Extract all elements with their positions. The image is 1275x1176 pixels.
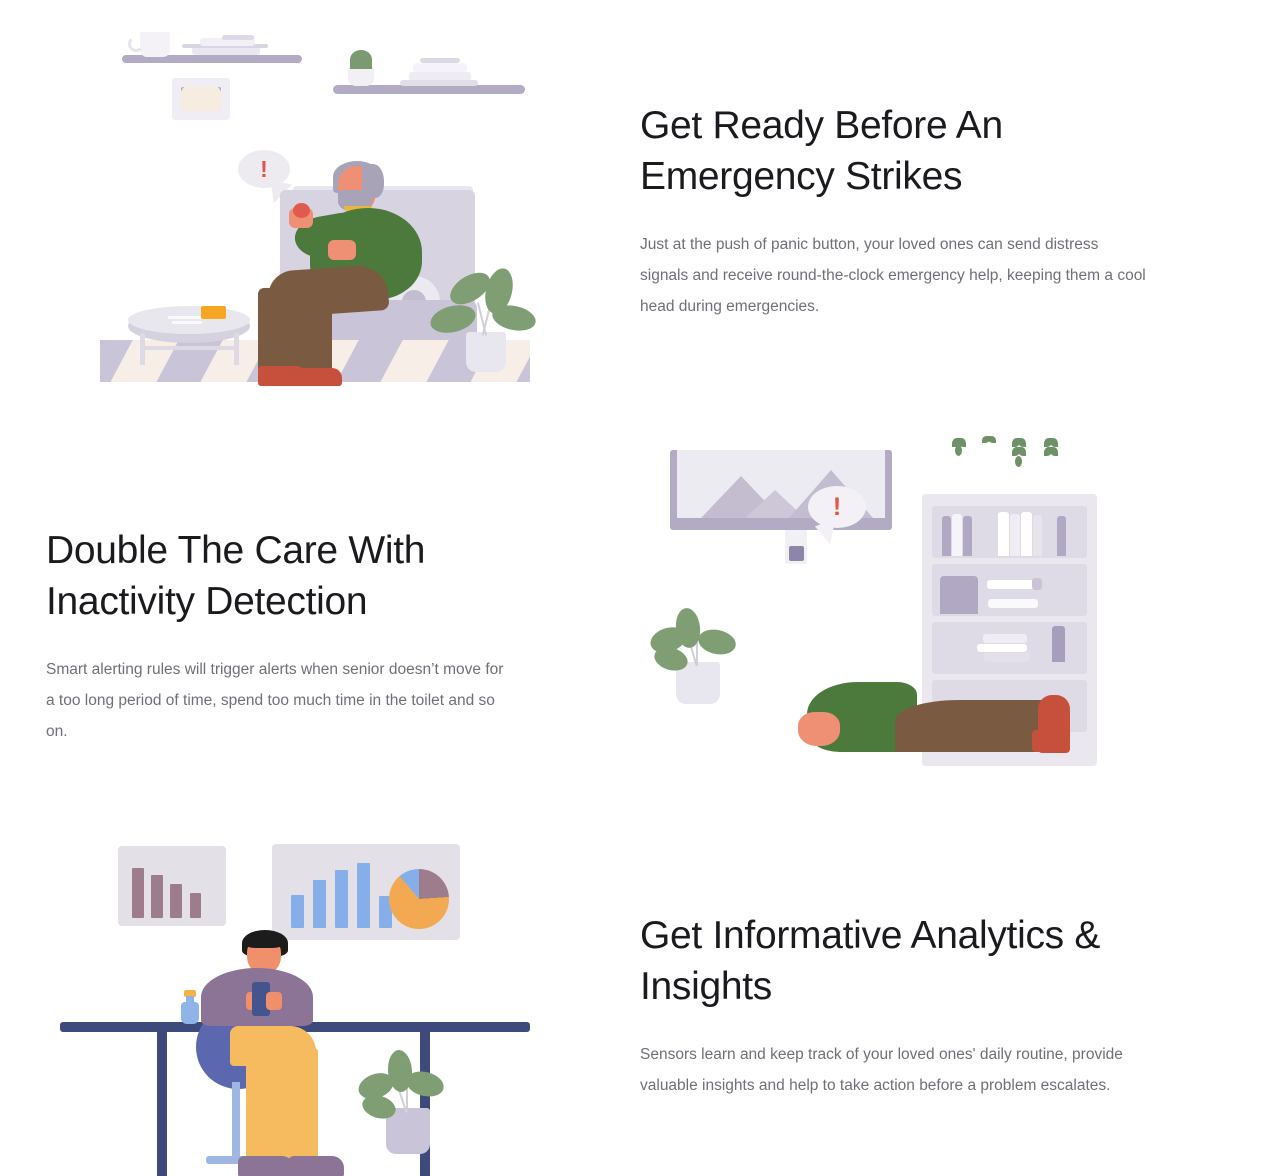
bookshelf-book (1010, 514, 1020, 556)
cat-picture-frame (172, 78, 230, 120)
shelf-book (222, 35, 254, 40)
mug-handle-icon (128, 36, 144, 52)
chart-bar (132, 868, 144, 918)
bookshelf-book (952, 514, 962, 556)
shelf-plant-icon (350, 50, 372, 69)
bookshelf-book (1057, 516, 1066, 556)
feature-title-analytics: Get Informative Analytics & Insights (640, 910, 1150, 1013)
bookshelf-box (940, 576, 978, 614)
vine-leaf (1050, 447, 1058, 456)
young-man-shoe (288, 1156, 344, 1176)
chart-bar (357, 863, 370, 928)
vine-leaf (955, 445, 962, 456)
feature-section-inactivity: Double The Care With Inactivity Detectio… (0, 430, 1275, 810)
panic-button[interactable] (293, 203, 310, 218)
illustration-emergency: ! (0, 0, 640, 400)
chart-bar (313, 880, 326, 928)
bookshelf-book (998, 512, 1009, 556)
fallen-senior-legs (895, 700, 1055, 752)
senior-shoe (300, 368, 342, 386)
young-man-hand (266, 992, 282, 1010)
young-man-hair-front (244, 932, 284, 948)
wall-shelf-right (333, 85, 525, 94)
plant-leaf (490, 302, 538, 335)
coffee-table-surface (128, 306, 250, 334)
water-bottle (181, 1002, 199, 1024)
bookshelf-book (980, 590, 1032, 598)
bookshelf-book (977, 644, 1027, 652)
young-man-shoe (238, 1156, 294, 1176)
pie-chart (389, 869, 449, 929)
bookshelf-book (1032, 578, 1042, 590)
chart-bar (190, 893, 201, 918)
alert-speech-bubble: ! (808, 486, 866, 528)
text-block-analytics: Get Informative Analytics & Insights Sen… (640, 820, 1150, 1101)
text-block-inactivity: Double The Care With Inactivity Detectio… (0, 430, 510, 747)
bookshelf-book (1052, 626, 1065, 662)
plant-leaf (404, 1068, 447, 1100)
bookshelf-book (942, 516, 951, 556)
feature-title-emergency: Get Ready Before An Emergency Strikes (640, 100, 1150, 203)
feature-body-inactivity: Smart alerting rules will trigger alerts… (46, 654, 510, 747)
vine-leaf (988, 436, 996, 443)
vine-leaf (1015, 456, 1022, 467)
feature-section-emergency: ! (0, 0, 1275, 400)
fallen-senior-head (798, 712, 840, 746)
young-man-lower-leg (282, 1048, 318, 1164)
vine-leaf (1018, 447, 1026, 456)
shelf-pot (348, 66, 374, 86)
features-page: ! (0, 0, 1275, 1176)
floor-plant-pot (466, 332, 506, 372)
chart-bar (335, 870, 348, 928)
chart-bar (151, 875, 163, 918)
young-man-lower-leg (246, 1046, 282, 1164)
feature-body-emergency: Just at the push of panic button, your l… (640, 229, 1150, 322)
bookshelf-book (1021, 512, 1032, 556)
coffee-table-shelf (140, 346, 239, 350)
mug-icon (140, 32, 170, 57)
illustration-inactivity: ! (640, 430, 1200, 810)
vine-leaf (1018, 438, 1026, 447)
plant-leaf (696, 626, 738, 657)
vine-leaf (1050, 438, 1058, 447)
shelf-book (400, 80, 478, 86)
desk-leg (420, 1030, 430, 1176)
alert-exclamation: ! (260, 156, 268, 183)
feature-section-analytics: Get Informative Analytics & Insights Sen… (0, 820, 1275, 1176)
fallen-senior-shoe (1032, 730, 1070, 752)
bookshelf-book (1033, 515, 1042, 556)
light-switch-button[interactable] (789, 546, 804, 561)
feature-body-analytics: Sensors learn and keep track of your lov… (640, 1039, 1150, 1101)
frame-inner (181, 87, 221, 111)
bookshelf-book (988, 599, 1038, 608)
chart-bar (170, 884, 182, 918)
alert-exclamation: ! (833, 493, 841, 522)
table-book (201, 306, 226, 319)
chart-bar (291, 895, 304, 928)
bookshelf-book (987, 580, 1035, 589)
shelf-book (420, 58, 460, 63)
table-paper (172, 321, 202, 324)
desk-leg (157, 1030, 167, 1176)
office-chair-post (232, 1082, 240, 1160)
cat-icon (181, 87, 221, 111)
bookshelf-book (963, 516, 972, 556)
senior-hand (328, 240, 356, 260)
feature-title-inactivity: Double The Care With Inactivity Detectio… (46, 525, 510, 628)
table-paper (168, 316, 202, 319)
senior-shoe (258, 366, 306, 386)
shelf-book (413, 63, 467, 72)
bookshelf-book (984, 653, 1030, 662)
illustration-analytics (0, 820, 640, 1176)
text-block-emergency: Get Ready Before An Emergency Strikes Ju… (640, 0, 1150, 322)
bookshelf-book (983, 634, 1027, 643)
